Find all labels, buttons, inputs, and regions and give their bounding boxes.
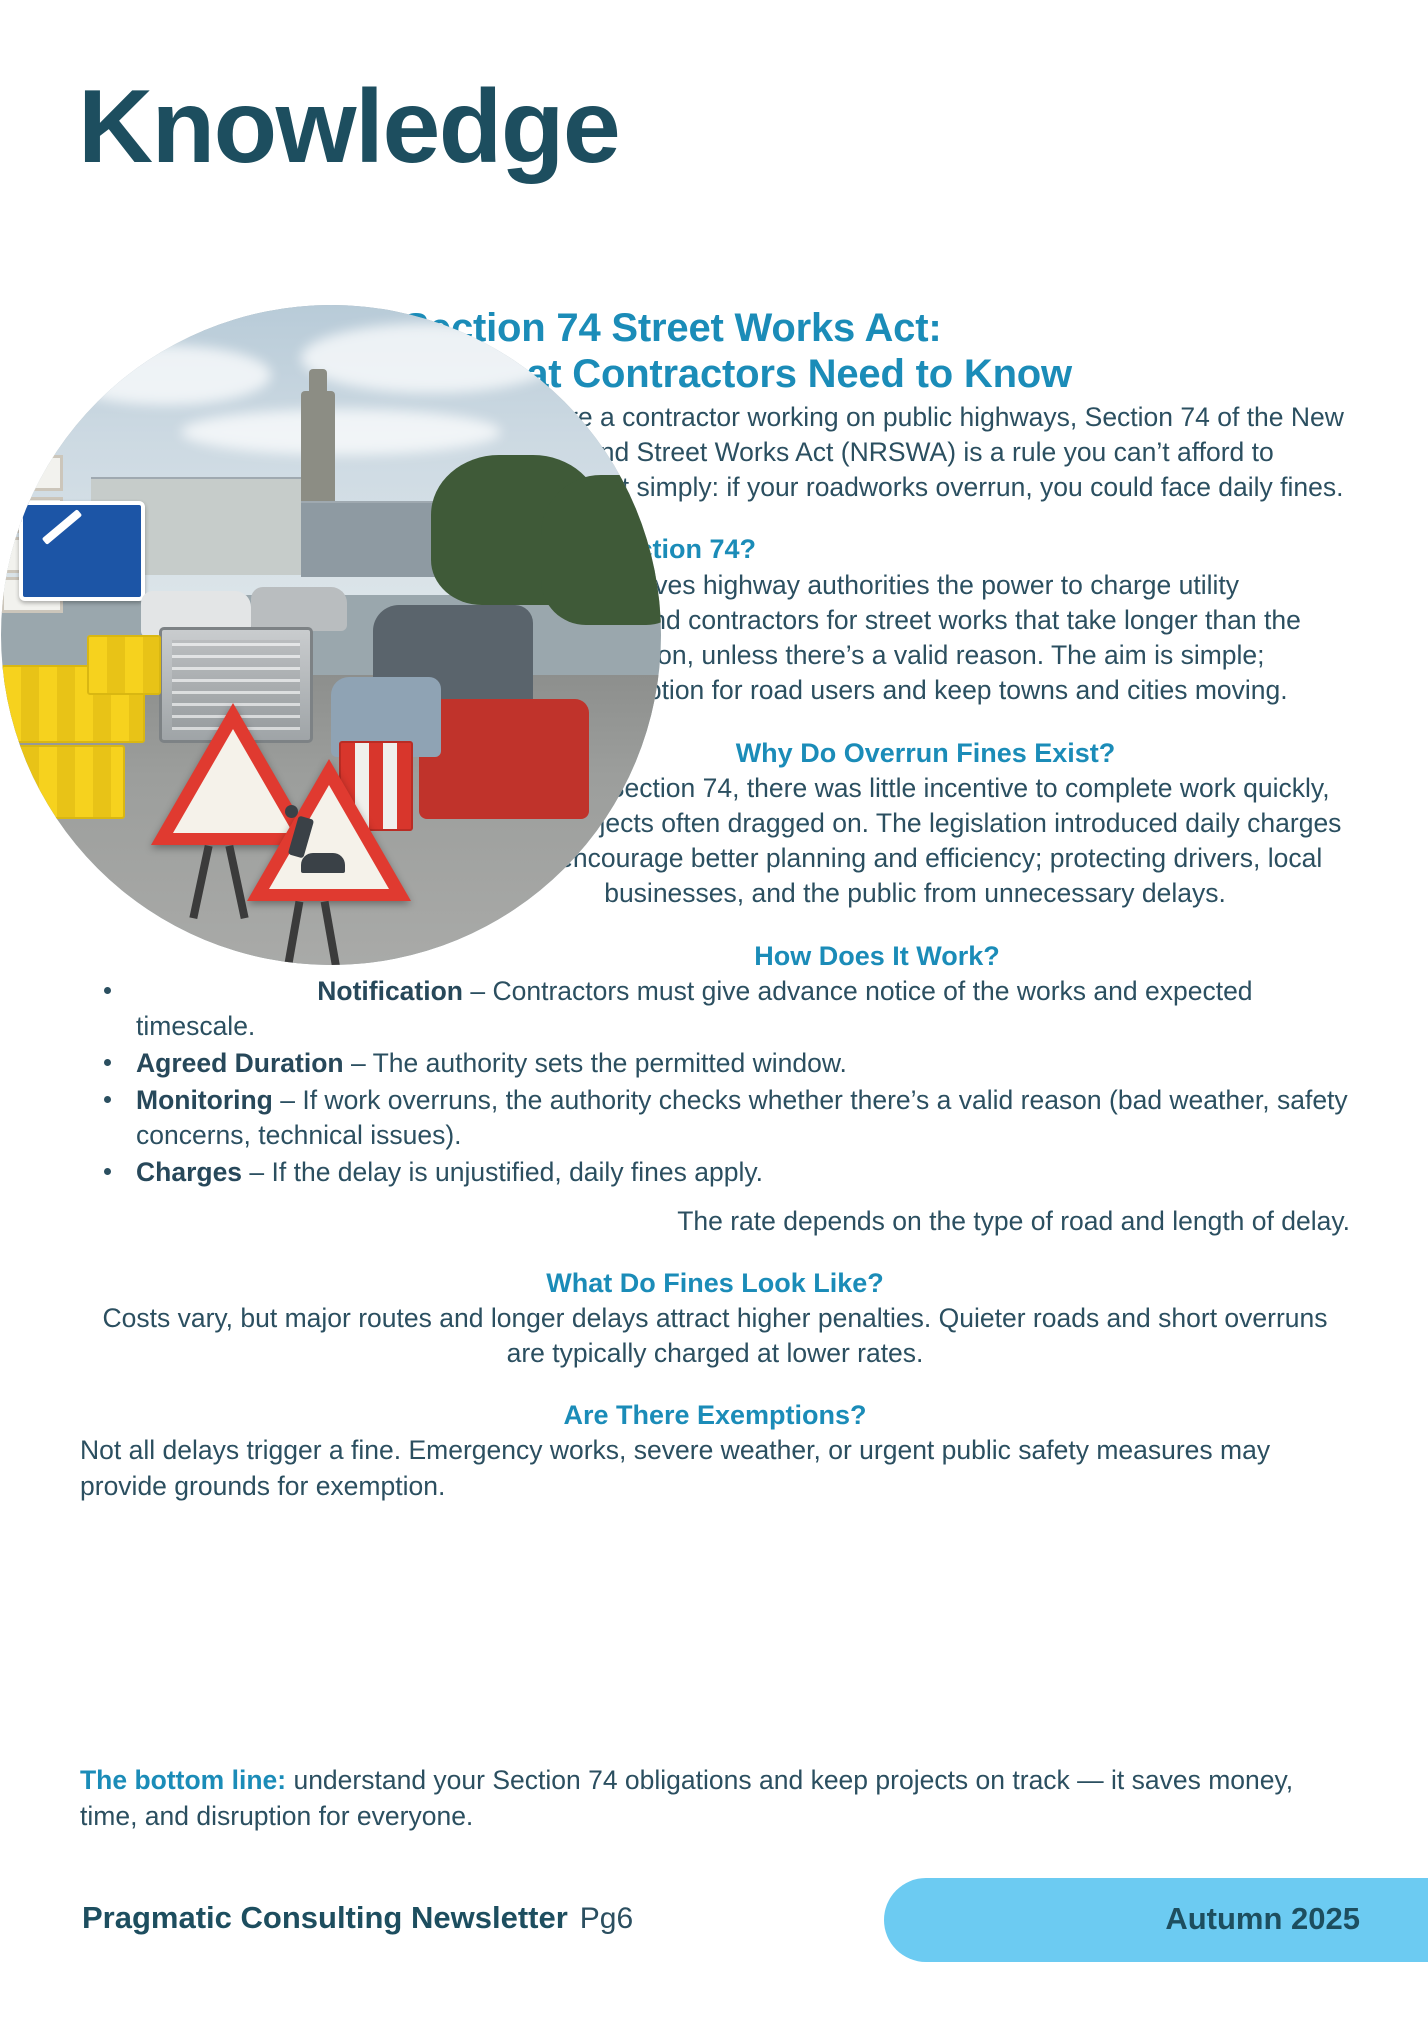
- section-body-what-do-fines-look-like: Costs vary, but major routes and longer …: [80, 1301, 1350, 1371]
- photo-parking-sign: [19, 501, 145, 601]
- footer-publication: Pragmatic Consulting NewsletterPg6: [82, 1900, 633, 1936]
- footer-publication-name: Pragmatic Consulting Newsletter: [82, 1900, 568, 1935]
- photo-street-sign: [1, 455, 63, 491]
- list-item-term: Agreed Duration: [136, 1048, 344, 1078]
- photo-car: [419, 699, 589, 819]
- photo-worker-figure: [301, 853, 345, 873]
- list-item-desc: – The authority sets the permitted windo…: [344, 1048, 847, 1078]
- photo-warning-triangle-works: [247, 759, 411, 901]
- rate-note: The rate depends on the type of road and…: [80, 1204, 1350, 1239]
- photo-church-tower: [301, 391, 335, 511]
- list-item: Charges – If the delay is unjustified, d…: [80, 1155, 1350, 1190]
- bullet-dot-icon: [104, 1096, 111, 1103]
- photo-cloud: [61, 345, 271, 405]
- photo-barrier: [87, 635, 161, 695]
- bottom-line: The bottom line: understand your Section…: [80, 1763, 1345, 1834]
- list-item-term: Monitoring: [136, 1085, 273, 1115]
- section-heading-are-there-exemptions: Are There Exemptions?: [80, 1397, 1350, 1433]
- photo-cloud: [301, 323, 561, 393]
- list-item: Agreed Duration – The authority sets the…: [80, 1046, 1350, 1081]
- list-item-desc: – If the delay is unjustified, daily fin…: [242, 1157, 763, 1187]
- photo-worker-figure: [285, 805, 298, 818]
- issue-badge: Autumn 2025: [884, 1878, 1428, 1962]
- bullet-dot-icon: [104, 1059, 111, 1066]
- list-item-desc: – If work overruns, the authority checks…: [136, 1085, 1348, 1150]
- photo-trees: [541, 475, 661, 625]
- how-it-works-list: Notification – Contractors must give adv…: [80, 974, 1350, 1190]
- photo-cloud: [181, 409, 501, 455]
- roadworks-photo-wrap: [81, 305, 501, 1005]
- section-heading-what-do-fines-look-like: What Do Fines Look Like?: [80, 1265, 1350, 1301]
- photo-car: [251, 587, 347, 631]
- page-footer: Pragmatic Consulting NewsletterPg6 Autum…: [0, 1878, 1428, 1988]
- photo-barrier: [1, 745, 125, 819]
- footer-page-number: Pg6: [580, 1902, 633, 1935]
- list-item-desc: – Contractors must give advance notice o…: [136, 976, 1253, 1041]
- list-item-term: Charges: [136, 1157, 242, 1187]
- issue-badge-label: Autumn 2025: [1165, 1901, 1360, 1937]
- list-item-term: Notification: [317, 976, 463, 1006]
- photo-building: [301, 501, 451, 577]
- bullet-dot-icon: [104, 987, 111, 994]
- article-body: Section 74 Street Works Act: What Contra…: [80, 305, 1350, 1845]
- roadworks-photo: [1, 305, 661, 965]
- list-item: Notification – Contractors must give adv…: [80, 974, 1350, 1044]
- bottom-line-label: The bottom line:: [80, 1765, 286, 1795]
- newsletter-page: Knowledge: [0, 0, 1428, 2018]
- section-body-are-there-exemptions: Not all delays trigger a fine. Emergency…: [80, 1433, 1350, 1503]
- list-item: Monitoring – If work overruns, the autho…: [80, 1083, 1350, 1153]
- page-title: Knowledge: [78, 72, 619, 182]
- bullet-dot-icon: [104, 1168, 111, 1175]
